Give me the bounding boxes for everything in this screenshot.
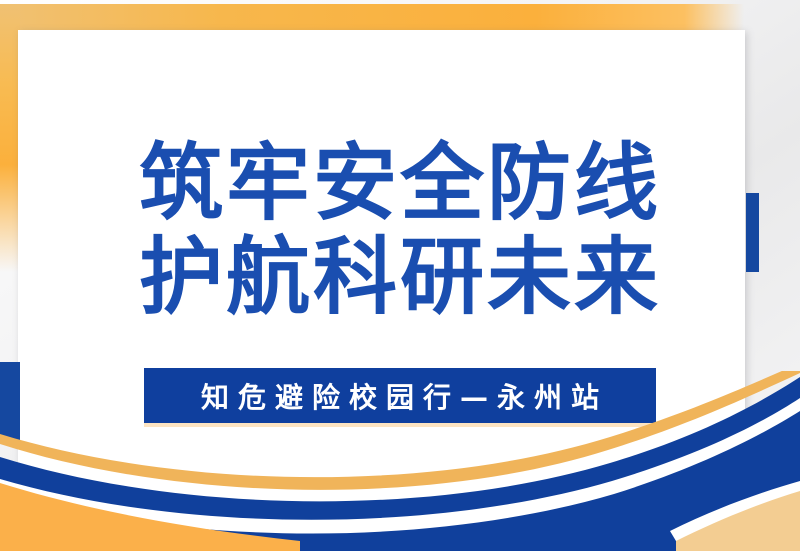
poster-title: 筑牢安全防线 护航科研未来 xyxy=(0,136,800,324)
orange-top-frame-bar xyxy=(0,4,744,30)
subtitle-text: 知危避险校园行—永州站 xyxy=(192,376,608,416)
subtitle-banner-wrap: 知危避险校园行—永州站 xyxy=(144,368,656,423)
title-line-1: 筑牢安全防线 xyxy=(0,136,800,230)
title-line-2: 护航科研未来 xyxy=(0,230,800,324)
blue-accent-bar-left xyxy=(0,362,20,441)
poster-canvas: 筑牢安全防线 护航科研未来 知危避险校园行—永州站 xyxy=(0,0,800,551)
subtitle-banner: 知危避险校园行—永州站 xyxy=(144,368,656,423)
